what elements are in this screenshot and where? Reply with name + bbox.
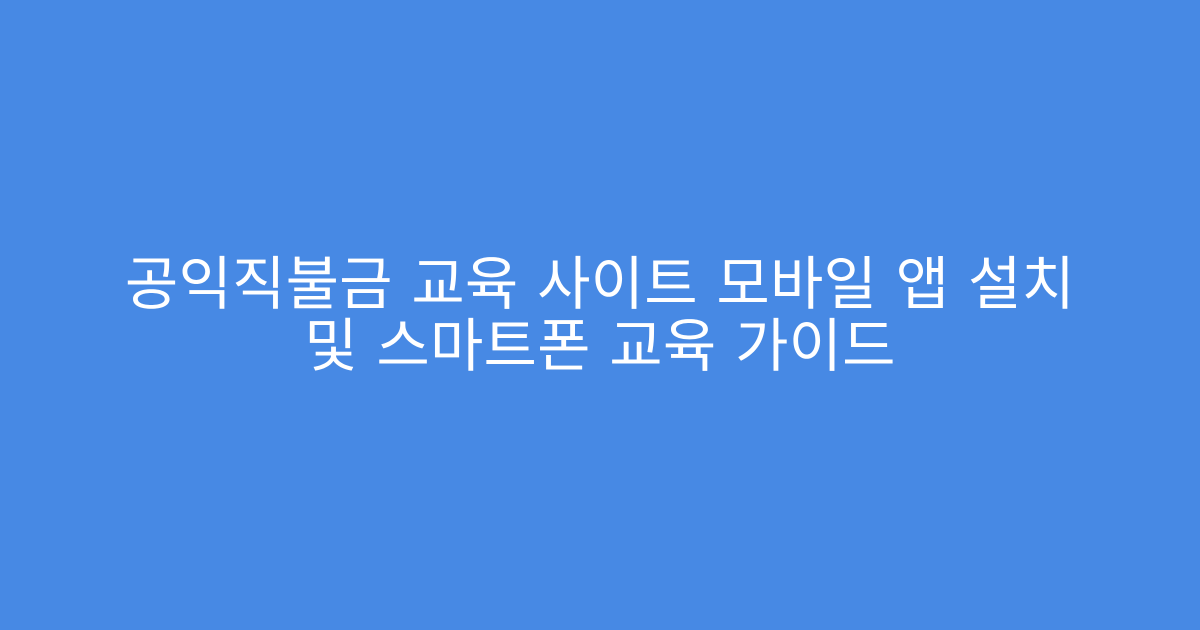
share-card: 공익직불금 교육 사이트 모바일 앱 설치 및 스마트폰 교육 가이드 [0, 0, 1200, 630]
page-title: 공익직불금 교육 사이트 모바일 앱 설치 및 스마트폰 교육 가이드 [100, 253, 1100, 377]
headline-block: 공익직불금 교육 사이트 모바일 앱 설치 및 스마트폰 교육 가이드 [100, 253, 1100, 377]
